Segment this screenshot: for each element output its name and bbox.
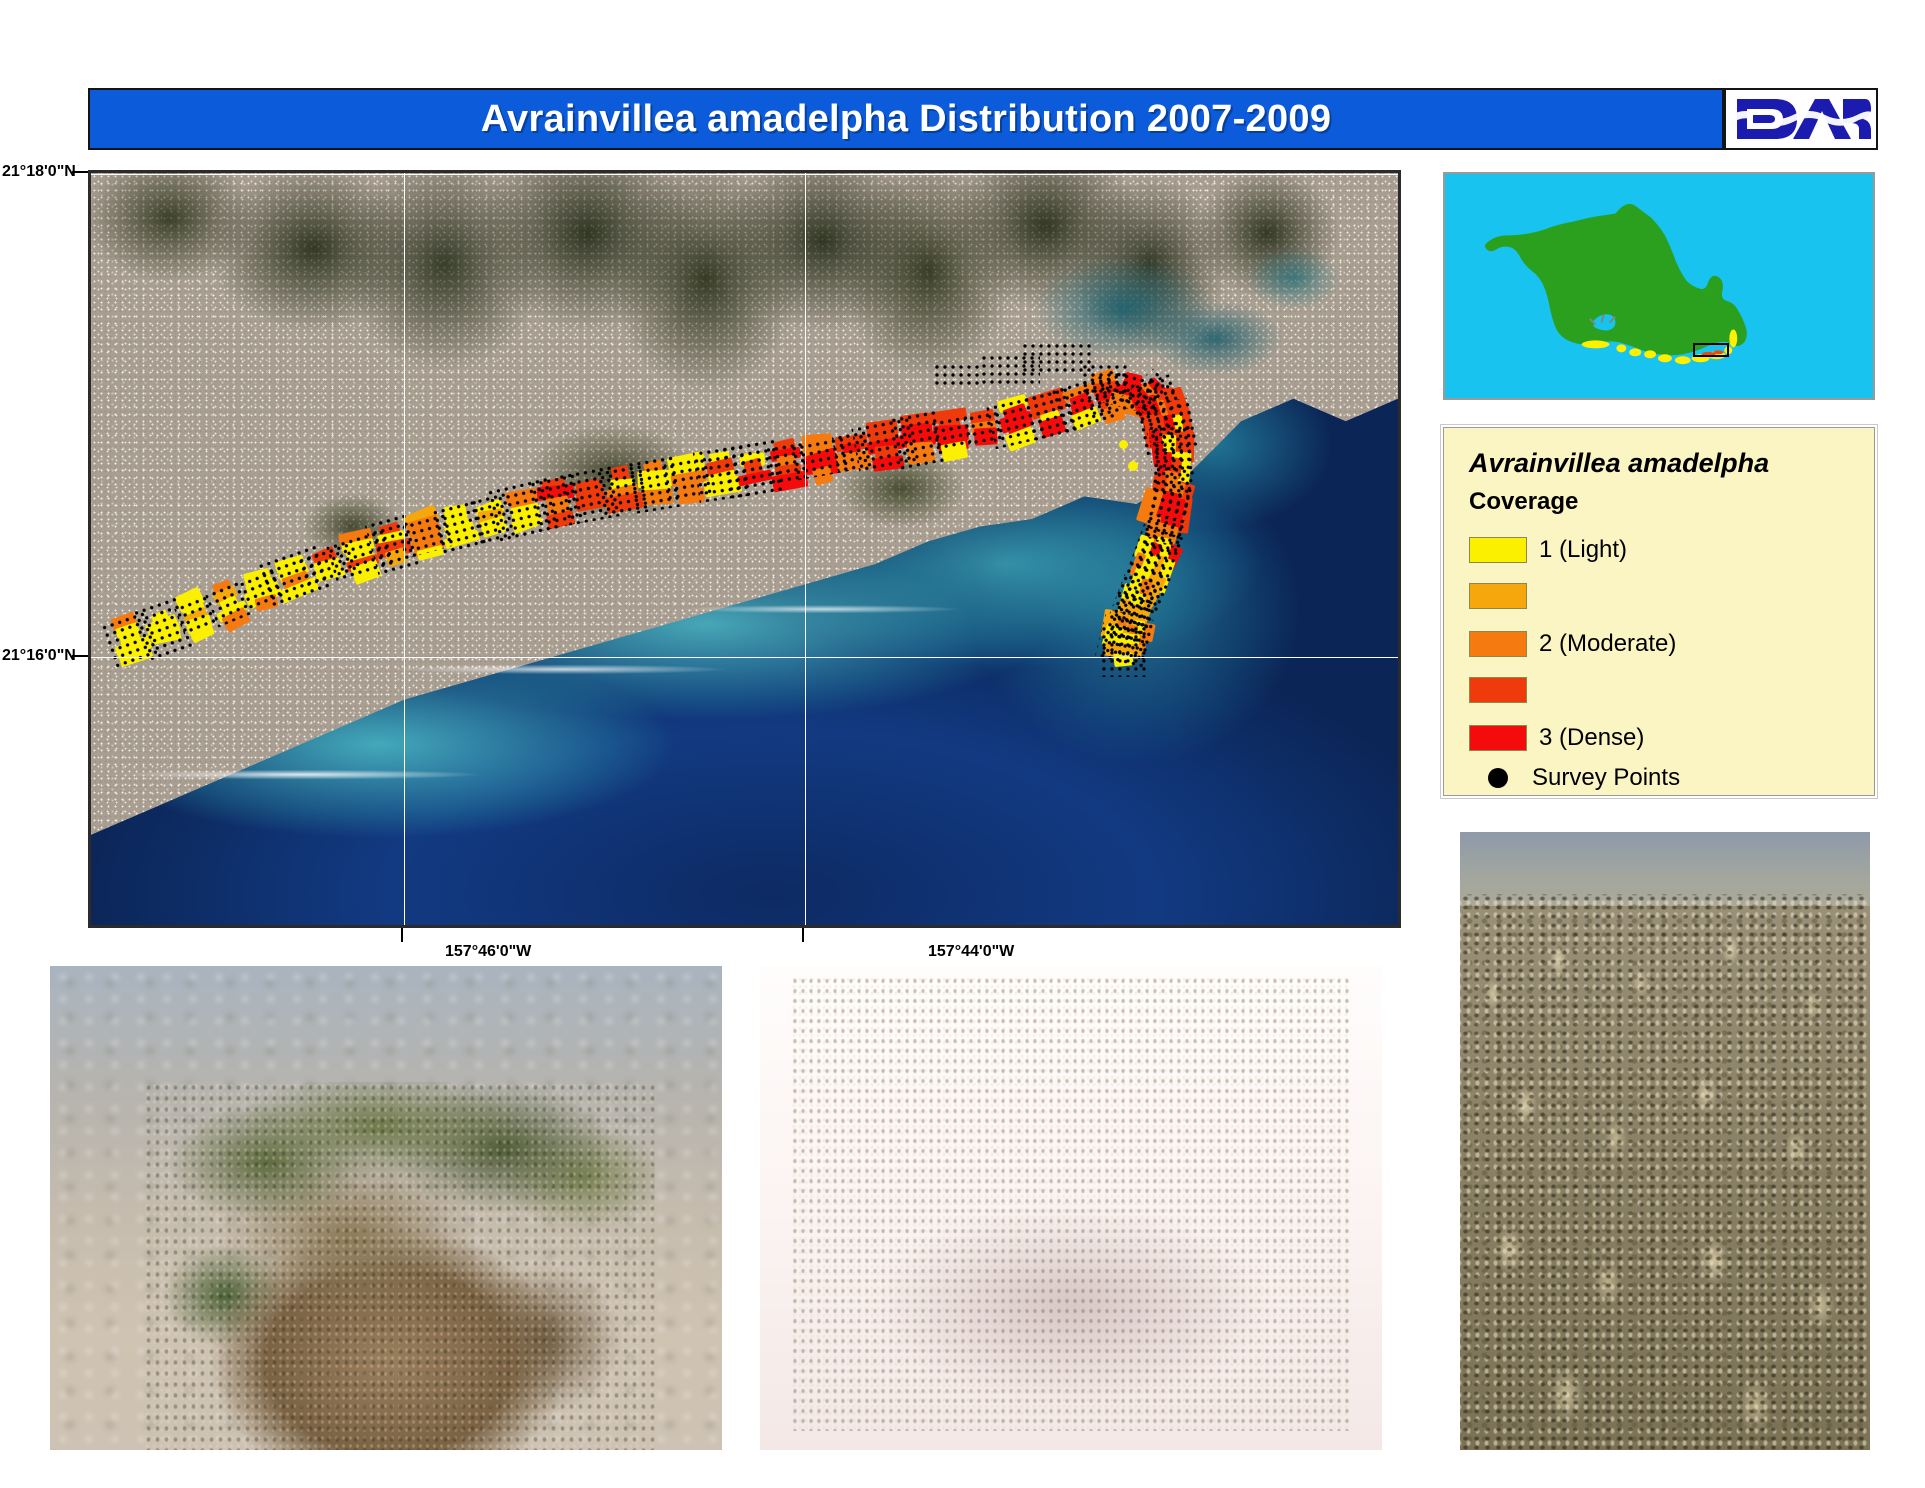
graticule-lon-157-44 (805, 173, 806, 925)
lat-label-bottom: 21°16'0"N (2, 647, 76, 665)
swatch-coverage-3 (1469, 725, 1527, 751)
swatch-coverage-2-3 (1469, 677, 1527, 703)
photo-algae-clump-in-water (50, 966, 722, 1450)
survey-point-cluster (1081, 363, 1129, 393)
survey-point-cluster (933, 363, 983, 389)
dar-logo (1724, 88, 1878, 150)
lat-tick-top (72, 171, 88, 173)
photo2-specimen-texture (791, 976, 1351, 1431)
page-title: Avrainvillea amadelpha Distribution 2007… (481, 98, 1332, 141)
poster-canvas: Avrainvillea amadelpha Distribution 2007… (0, 0, 1925, 1488)
legend-row-1-2 (1469, 583, 1539, 609)
title-banner: Avrainvillea amadelpha Distribution 2007… (88, 88, 1724, 150)
lon-tick-right (802, 928, 804, 942)
photo-specimen-on-white (760, 966, 1382, 1450)
lat-tick-bottom (72, 655, 88, 657)
lon-label-right: 157°44'0"W (928, 943, 1014, 961)
survey-point-cluster (980, 354, 1040, 384)
lon-label-left: 157°46'0"W (445, 943, 531, 961)
legend-label-coverage-3: 3 (Dense) (1539, 724, 1644, 752)
legend-label-coverage-2: 2 (Moderate) (1539, 630, 1676, 658)
graticule-lon-157-46 (404, 173, 405, 925)
oahu-island-shape (1445, 174, 1873, 400)
legend-row-survey-points: Survey Points (1469, 764, 1680, 792)
main-map[interactable] (88, 170, 1401, 928)
legend-row-2-3 (1469, 677, 1539, 703)
swatch-coverage-2 (1469, 631, 1527, 657)
legend-row-moderate: 2 (Moderate) (1469, 630, 1676, 658)
legend-label-coverage-1: 1 (Light) (1539, 536, 1627, 564)
lat-label-top: 21°18'0"N (2, 163, 76, 181)
dar-logo-icon (1731, 93, 1871, 145)
swatch-coverage-1 (1469, 537, 1527, 563)
survey-points-layer (91, 173, 1398, 925)
legend-row-light: 1 (Light) (1469, 536, 1627, 564)
survey-point-icon (1488, 768, 1508, 788)
legend-label-survey-points: Survey Points (1532, 764, 1680, 792)
legend-row-dense: 3 (Dense) (1469, 724, 1644, 752)
photo1-algae-texture (144, 1082, 655, 1450)
inset-locator-map[interactable] (1443, 172, 1875, 400)
graticule-lat-21-16 (91, 657, 1398, 658)
legend-panel: Avrainvillea amadelpha Coverage 1 (Light… (1443, 427, 1875, 796)
study-area-extent-box (1693, 343, 1729, 357)
photo-dense-algae-meadow (1460, 832, 1870, 1450)
swatch-coverage-1-2 (1469, 583, 1527, 609)
photo3-meadow-texture (1460, 894, 1870, 1450)
graticule-lat-21-18 (91, 174, 1398, 175)
legend-subtitle: Coverage (1469, 488, 1578, 516)
survey-point-cluster (1098, 625, 1148, 677)
lon-tick-left (401, 928, 403, 942)
legend-title: Avrainvillea amadelpha (1469, 448, 1769, 479)
